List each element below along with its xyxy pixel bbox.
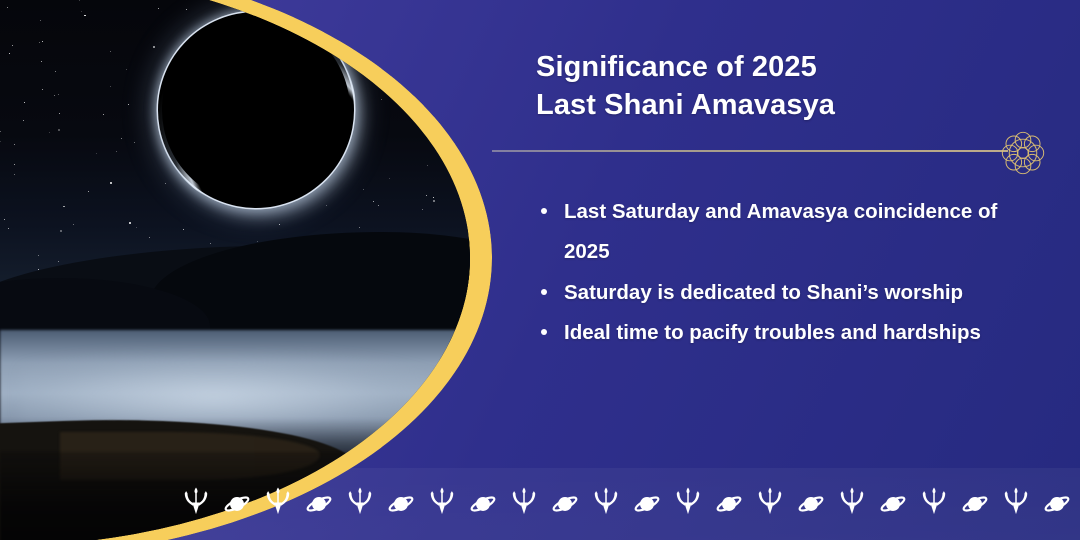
mandala-rosette-icon bbox=[1000, 130, 1046, 176]
title-line-2: Last Shani Amavasya bbox=[536, 86, 1006, 124]
bullet-list: Last Saturday and Amavasya coincidence o… bbox=[532, 192, 1010, 354]
bullet-item: Saturday is dedicated to Shani’s worship bbox=[532, 273, 1010, 313]
title-line-1: Significance of 2025 bbox=[536, 48, 1006, 86]
divider-line bbox=[492, 150, 1008, 152]
eclipse-landscape-photo bbox=[0, 0, 478, 540]
page-title: Significance of 2025 Last Shani Amavasya bbox=[536, 48, 1006, 125]
photo-panel bbox=[0, 0, 500, 540]
bullet-item: Ideal time to pacify troubles and hardsh… bbox=[532, 313, 1010, 353]
slide-canvas: Significance of 2025 Last Shani Amavasya… bbox=[0, 0, 1080, 540]
bullet-item: Last Saturday and Amavasya coincidence o… bbox=[532, 192, 1010, 273]
